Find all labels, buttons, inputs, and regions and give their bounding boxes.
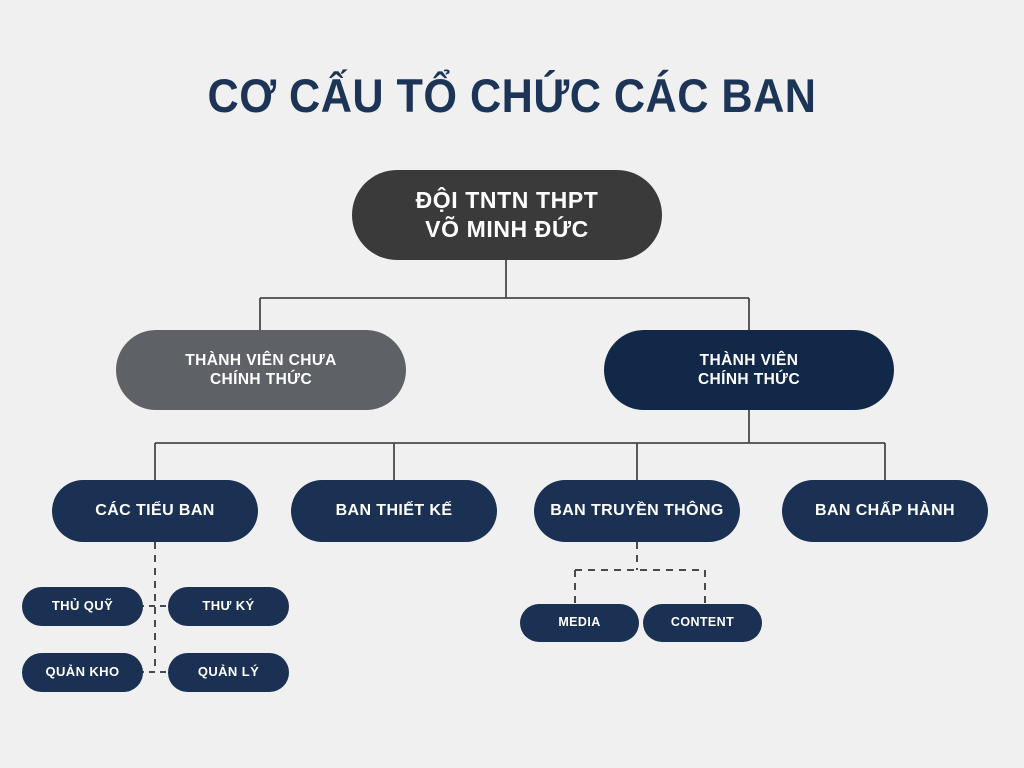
node-thu-quy[interactable]: THỦ QUỸ	[22, 587, 143, 626]
node-doi-tntn-thpt-vo-minh-duc[interactable]: ĐỘI TNTN THPT VÕ MINH ĐỨC	[352, 170, 662, 260]
node-content[interactable]: CONTENT	[643, 604, 762, 642]
node-chinh-thuc-line2: CHÍNH THỨC	[698, 371, 800, 388]
node-chua-chinh-thuc-line1: THÀNH VIÊN CHƯA	[185, 352, 336, 369]
node-layer: ĐỘI TNTN THPT VÕ MINH ĐỨC THÀNH VIÊN CHƯ…	[0, 0, 1024, 768]
org-chart-canvas: CƠ CẤU TỔ CHỨC CÁC BAN ĐỘI TNTN THPT VÕ …	[0, 0, 1024, 768]
node-chinh-thuc-line1: THÀNH VIÊN	[700, 352, 799, 369]
node-ban-thiet-ke[interactable]: BAN THIẾT KẾ	[291, 480, 497, 542]
node-thanh-vien-chinh-thuc[interactable]: THÀNH VIÊN CHÍNH THỨC	[604, 330, 894, 410]
node-media[interactable]: MEDIA	[520, 604, 639, 642]
node-thu-ky[interactable]: THƯ KÝ	[168, 587, 289, 626]
node-chua-chinh-thuc-line2: CHÍNH THỨC	[210, 371, 312, 388]
node-quan-kho[interactable]: QUẢN KHO	[22, 653, 143, 692]
node-root-line2: VÕ MINH ĐỨC	[425, 216, 589, 242]
node-quan-ly[interactable]: QUẢN LÝ	[168, 653, 289, 692]
node-ban-truyen-thong[interactable]: BAN TRUYỀN THÔNG	[534, 480, 740, 542]
node-cac-tieu-ban[interactable]: CÁC TIỂU BAN	[52, 480, 258, 542]
node-thanh-vien-chua-chinh-thuc[interactable]: THÀNH VIÊN CHƯA CHÍNH THỨC	[116, 330, 406, 410]
node-root-line1: ĐỘI TNTN THPT	[416, 187, 599, 213]
node-ban-chap-hanh[interactable]: BAN CHẤP HÀNH	[782, 480, 988, 542]
